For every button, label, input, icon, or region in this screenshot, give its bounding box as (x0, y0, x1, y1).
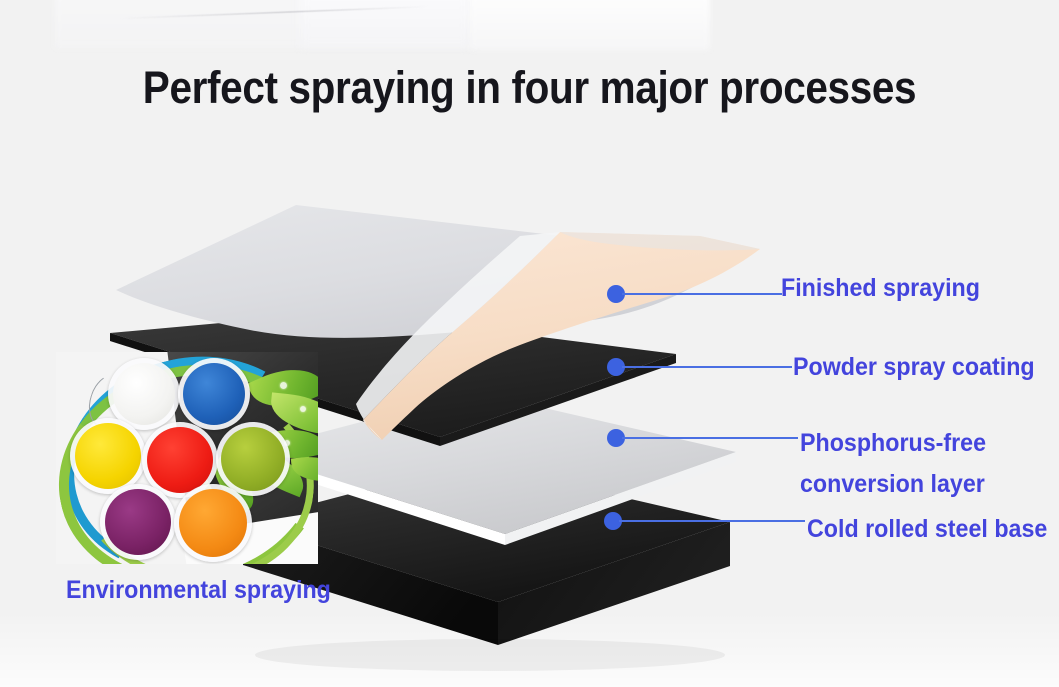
callout-line-phosphorus-free (622, 437, 798, 439)
yellow-powder-pot (70, 418, 146, 494)
purple-powder-pot (100, 484, 176, 560)
callout-label-line-1: Phosphorus-free (800, 429, 986, 457)
dewdrop-icon (280, 382, 287, 389)
environmental-spraying-label: Environmental spraying (66, 576, 331, 605)
infographic-canvas: Perfect spraying in four major processes (0, 0, 1059, 687)
callout-line-cold-rolled-steel (619, 520, 805, 522)
powder-pots-photo (56, 352, 318, 564)
green-powder-pot (216, 422, 290, 496)
callout-line-powder-spray (622, 366, 792, 368)
callout-line-finished-spraying (622, 293, 782, 295)
callout-label-powder-spray: Powder spray coating (793, 353, 1035, 382)
callout-label-line-2: conversion layer (800, 464, 986, 505)
blue-powder-pot (178, 358, 250, 430)
dewdrop-icon (300, 406, 306, 412)
orange-powder-pot (174, 484, 252, 562)
callout-label-phosphorus-free: Phosphorus-free conversion layer (800, 423, 986, 505)
callout-label-finished-spraying: Finished spraying (781, 274, 980, 303)
callout-label-cold-rolled-steel: Cold rolled steel base (807, 515, 1047, 544)
